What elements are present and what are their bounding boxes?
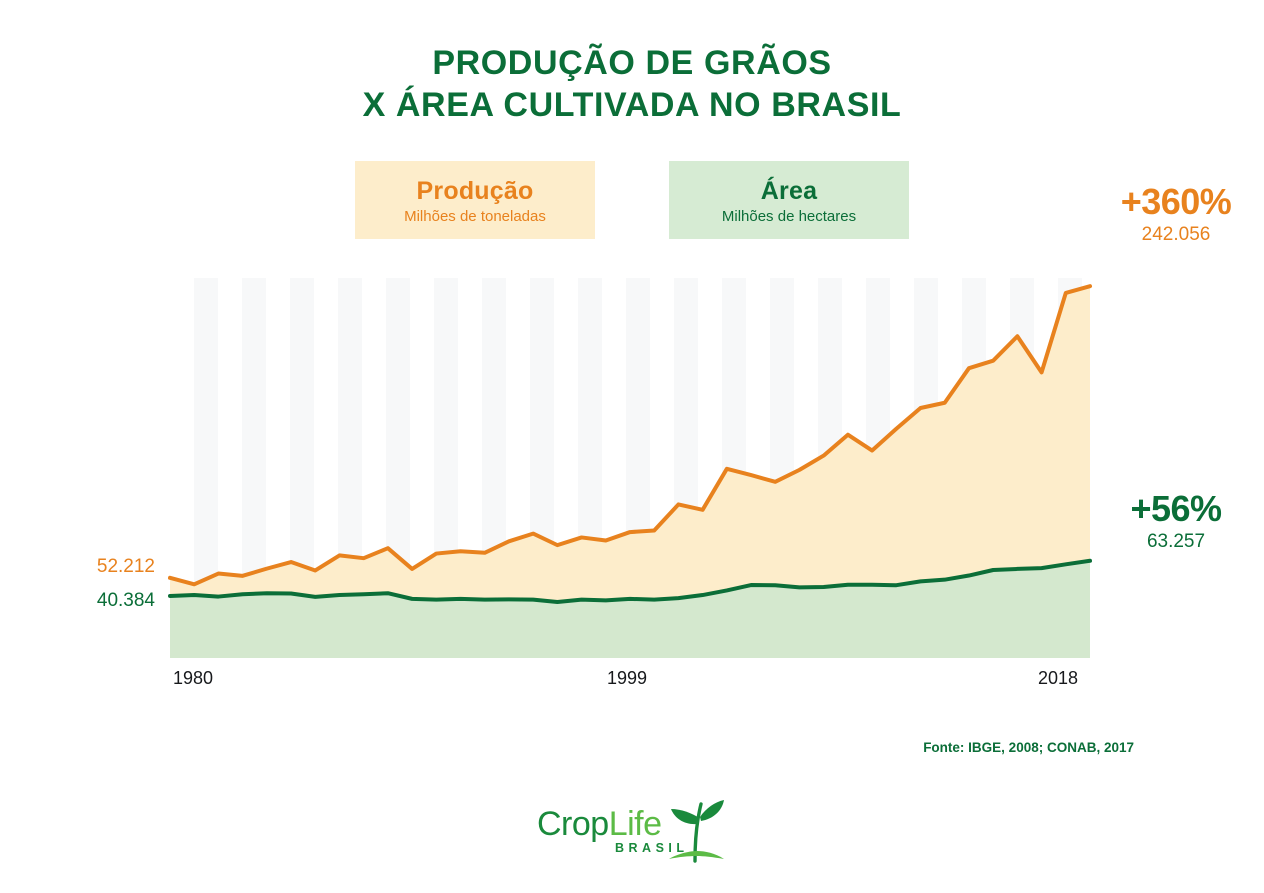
page-title: PRODUÇÃO DE GRÃOS X ÁREA CULTIVADA NO BR…: [0, 42, 1264, 126]
logo-word-life: Life: [609, 805, 662, 843]
background-band: [674, 278, 698, 658]
sprout-icon: [665, 797, 727, 870]
background-band: [914, 278, 938, 658]
source-note: Fonte: IBGE, 2008; CONAB, 2017: [0, 740, 1134, 755]
title-line-2: X ÁREA CULTIVADA NO BRASIL: [0, 84, 1264, 126]
legend-producao-unit: Milhões de toneladas: [404, 207, 546, 227]
logo-wordmark: CropLife: [537, 805, 662, 843]
background-band: [962, 278, 986, 658]
area-end-annotation: +56% 63.257: [1088, 489, 1264, 555]
x-axis-tick-1980: 1980: [173, 668, 213, 689]
producao-growth-pct: +360%: [1088, 182, 1264, 222]
background-band: [818, 278, 842, 658]
legend-area-title: Área: [761, 176, 817, 206]
area-growth-pct: +56%: [1088, 489, 1264, 529]
producao-line: [170, 286, 1090, 584]
background-band: [626, 278, 650, 658]
area-line: [170, 561, 1090, 602]
logo-word-crop: Crop: [537, 805, 609, 843]
background-band: [1010, 278, 1034, 658]
legend-producao-title: Produção: [417, 176, 534, 206]
producao-end-annotation: +360% 242.056: [1088, 182, 1264, 248]
legend-item-area: Área Milhões de hectares: [669, 161, 909, 239]
area-chart-svg: [0, 0, 1264, 893]
title-line-1: PRODUÇÃO DE GRÃOS: [0, 42, 1264, 84]
background-band: [434, 278, 458, 658]
chart-legend: Produção Milhões de toneladas Área Milhõ…: [0, 161, 1264, 241]
background-band: [578, 278, 602, 658]
background-band: [290, 278, 314, 658]
background-band: [194, 278, 218, 658]
legend-area-unit: Milhões de hectares: [722, 207, 856, 227]
area-end-value: 63.257: [1088, 529, 1264, 555]
background-bands: [194, 278, 1082, 658]
background-band: [530, 278, 554, 658]
background-band: [722, 278, 746, 658]
area-area-fill: [170, 561, 1090, 658]
background-band: [866, 278, 890, 658]
background-band: [770, 278, 794, 658]
background-band: [242, 278, 266, 658]
sprout-icon-svg: [665, 797, 727, 865]
background-band: [482, 278, 506, 658]
chart-canvas: [0, 0, 1264, 893]
background-band: [1058, 278, 1082, 658]
croplife-logo: CropLife BRASIL: [0, 795, 1264, 865]
area-start-value: 40.384: [20, 589, 155, 613]
producao-end-value: 242.056: [1088, 222, 1264, 248]
x-axis-tick-1999: 1999: [607, 668, 647, 689]
background-band: [338, 278, 362, 658]
producao-area-fill: [170, 286, 1090, 658]
legend-item-producao: Produção Milhões de toneladas: [355, 161, 595, 239]
x-axis-tick-2018: 2018: [1038, 668, 1078, 689]
background-band: [386, 278, 410, 658]
producao-start-value: 52.212: [20, 555, 155, 579]
